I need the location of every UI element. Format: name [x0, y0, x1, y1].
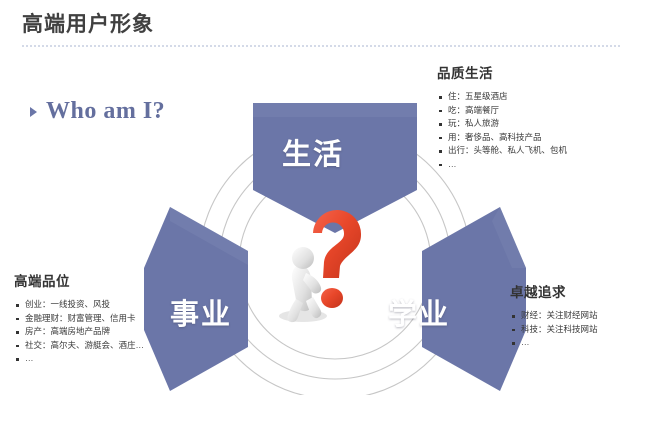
block-heading-quality: 品质生活 — [437, 62, 567, 82]
block-list-pursuit: 财经：关注财经网站 科技：关注科技网站 … — [510, 309, 598, 350]
title-divider — [22, 45, 620, 47]
text-block-high-end-taste: 高端品位 创业：一线投资、风投 金融理财：财富管理、信用卡 房产：高端房地产品牌… — [14, 270, 144, 366]
list-item: 吃：高端餐厅 — [437, 104, 567, 118]
block-list-taste: 创业：一线投资、风投 金融理财：财富管理、信用卡 房产：高端房地产品牌 社交：高… — [14, 298, 144, 366]
block-heading-pursuit: 卓越追求 — [510, 281, 598, 301]
question-mark-person-icon — [273, 203, 393, 328]
list-item: … — [437, 158, 567, 172]
list-item: 出行：头等舱、私人飞机、包机 — [437, 144, 567, 158]
text-block-quality-life: 品质生活 住：五星级酒店 吃：高端餐厅 玩：私人旅游 用：奢侈品、高科技产品 出… — [437, 62, 567, 171]
page-title: 高端用户形象 — [22, 8, 154, 38]
list-item: 财经：关注财经网站 — [510, 309, 598, 323]
list-item: 房产：高端房地产品牌 — [14, 325, 144, 339]
list-item: 创业：一线投资、风投 — [14, 298, 144, 312]
list-item: … — [510, 336, 598, 350]
list-item: 科技：关注科技网站 — [510, 323, 598, 337]
list-item: … — [14, 352, 144, 366]
list-item: 社交：高尔夫、游艇会、酒庄… — [14, 339, 144, 353]
list-item: 住：五星级酒店 — [437, 90, 567, 104]
block-list-quality: 住：五星级酒店 吃：高端餐厅 玩：私人旅游 用：奢侈品、高科技产品 出行：头等舱… — [437, 90, 567, 171]
list-item: 用：奢侈品、高科技产品 — [437, 131, 567, 145]
block-heading-taste: 高端品位 — [14, 270, 144, 290]
list-item: 玩：私人旅游 — [437, 117, 567, 131]
triangle-right-icon — [30, 107, 37, 117]
text-block-excellence-pursuit: 卓越追求 财经：关注财经网站 科技：关注科技网站 … — [510, 281, 598, 350]
list-item: 金融理财：财富管理、信用卡 — [14, 312, 144, 326]
